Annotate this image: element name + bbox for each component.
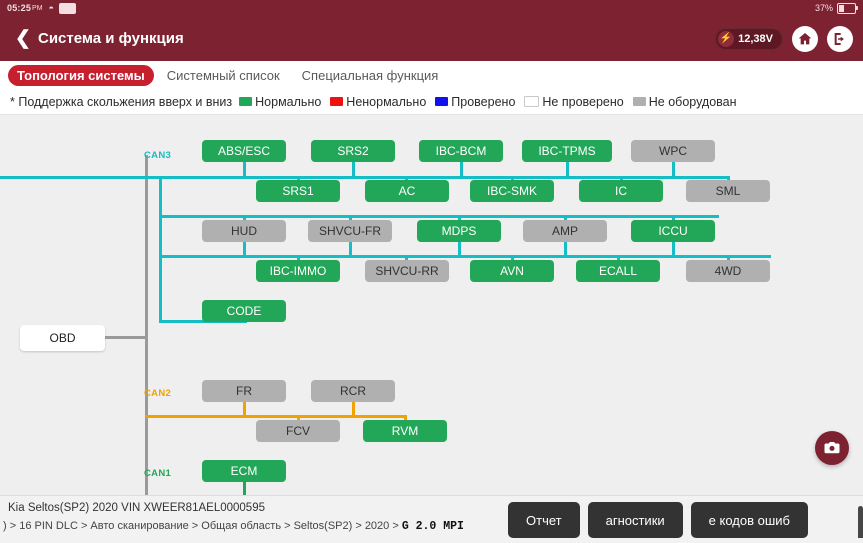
topology-canvas[interactable]: OBD CAN3 xyxy=(0,115,863,495)
system-status-bar: 05:25 PM ◓ 37% xyxy=(0,0,863,16)
can3-drop-shvcu-fr-down xyxy=(349,242,352,257)
diagnostics-button[interactable]: агностики xyxy=(588,502,683,538)
bus-label-can1: CAN1 xyxy=(144,468,171,479)
legend-swatch-normal xyxy=(239,97,252,106)
node-code[interactable]: CODE xyxy=(202,300,286,322)
screenshot-button[interactable] xyxy=(815,431,849,465)
tab-special-function[interactable]: Специальная функция xyxy=(293,65,448,86)
bottom-bar: Kia Seltos(SP2) 2020 VIN XWEER81AEL00005… xyxy=(0,495,863,543)
battery-percent-label: 37% xyxy=(815,3,833,13)
node-4wd[interactable]: 4WD xyxy=(686,260,770,282)
node-ac[interactable]: AC xyxy=(365,180,449,202)
can3-drop-abs-esc xyxy=(243,162,246,178)
can3-bus-row1 xyxy=(0,176,715,179)
legend-item-normal: Нормально xyxy=(239,95,321,109)
bolt-icon: ⚡ xyxy=(718,31,734,47)
tab-system-topology[interactable]: Топология системы xyxy=(8,65,154,86)
node-hud[interactable]: HUD xyxy=(202,220,286,242)
title-bar: ❮ Система и функция ⚡ 12,38V xyxy=(0,16,863,61)
can3-spine xyxy=(159,176,162,323)
legend-scroll-hint: * Поддержка скольжения вверх и вниз xyxy=(10,95,232,109)
can3-drop-ibc-tpms xyxy=(566,162,569,178)
breadcrumb-path: ) > 16 PIN DLC > Авто сканирование > Общ… xyxy=(3,520,402,532)
node-srs1[interactable]: SRS1 xyxy=(256,180,340,202)
can3-bus-row3 xyxy=(159,255,771,258)
trunk-vertical xyxy=(145,155,148,495)
legend-label-not-equipped: Не оборудован xyxy=(649,95,737,109)
node-wpc[interactable]: WPC xyxy=(631,140,715,162)
exit-button[interactable] xyxy=(827,26,853,52)
node-sml[interactable]: SML xyxy=(686,180,770,202)
report-button[interactable]: Отчет xyxy=(508,502,580,538)
can2-drop-rcr xyxy=(352,402,355,417)
node-ic[interactable]: IC xyxy=(579,180,663,202)
can3-drop-mdps-down xyxy=(458,242,461,257)
node-fr[interactable]: FR xyxy=(202,380,286,402)
legend-label-unchecked: Не проверено xyxy=(542,95,623,109)
action-button-row[interactable]: Отчет агностики е кодов ошиб xyxy=(508,502,863,538)
legend-items: Нормально Ненормально Проверено Не прове… xyxy=(239,95,736,109)
node-ecall[interactable]: ECALL xyxy=(576,260,660,282)
bus-label-can3: CAN3 xyxy=(144,150,171,161)
node-mdps[interactable]: MDPS xyxy=(417,220,501,242)
legend-bar: * Поддержка скольжения вверх и вниз Норм… xyxy=(0,89,863,115)
can2-drop-fr xyxy=(243,402,246,417)
node-iccu[interactable]: ICCU xyxy=(631,220,715,242)
legend-label-checked: Проверено xyxy=(451,95,515,109)
exit-icon xyxy=(832,31,848,47)
node-shvcu-rr[interactable]: SHVCU-RR xyxy=(365,260,449,282)
can1-drop-ecm xyxy=(243,482,246,495)
node-avn[interactable]: AVN xyxy=(470,260,554,282)
node-amp[interactable]: AMP xyxy=(523,220,607,242)
legend-item-abnormal: Ненормально xyxy=(330,95,426,109)
tab-system-list[interactable]: Системный список xyxy=(158,65,289,86)
can3-drop-srs2 xyxy=(352,162,355,178)
legend-swatch-unchecked xyxy=(524,96,539,107)
page-title: Система и функция xyxy=(38,30,184,47)
camera-icon xyxy=(823,439,841,457)
home-icon xyxy=(797,31,813,47)
bus-label-can2: CAN2 xyxy=(144,388,171,399)
legend-item-unchecked: Не проверено xyxy=(524,95,623,109)
back-button[interactable]: ❮ xyxy=(10,29,36,48)
legend-swatch-abnormal xyxy=(330,97,343,106)
legend-item-checked: Проверено xyxy=(435,95,515,109)
node-fcv[interactable]: FCV xyxy=(256,420,340,442)
engine-type: G 2.0 MPI xyxy=(402,520,464,533)
title-bar-actions: ⚡ 12,38V xyxy=(715,26,853,52)
node-ibc-bcm[interactable]: IBC-BCM xyxy=(419,140,503,162)
node-rcr[interactable]: RCR xyxy=(311,380,395,402)
home-button[interactable] xyxy=(792,26,818,52)
tab-bar: Топология системы Системный список Специ… xyxy=(0,61,863,89)
can2-bus xyxy=(145,415,407,418)
node-abs-esc[interactable]: ABS/ESC xyxy=(202,140,286,162)
node-ecm[interactable]: ECM xyxy=(202,460,286,482)
legend-swatch-not-equipped xyxy=(633,97,646,106)
legend-item-not-equipped: Не оборудован xyxy=(633,95,737,109)
legend-label-abnormal: Ненормально xyxy=(346,95,426,109)
can3-drop-hud-down xyxy=(243,242,246,257)
wifi-icon: ◓ xyxy=(49,4,54,13)
node-obd[interactable]: OBD xyxy=(20,325,105,351)
vehicle-info: Kia Seltos(SP2) 2020 VIN XWEER81AEL00005… xyxy=(8,502,265,514)
can3-drop-iccu-down xyxy=(672,242,675,257)
button-row-scroll-edge[interactable] xyxy=(858,506,863,538)
trunk-obd-horizontal xyxy=(105,336,147,339)
node-shvcu-fr[interactable]: SHVCU-FR xyxy=(308,220,392,242)
can3-drop-amp-down xyxy=(564,242,567,257)
node-ibc-smk[interactable]: IBC-SMK xyxy=(470,180,554,202)
battery-icon xyxy=(837,3,856,14)
can3-drop-ibc-bcm xyxy=(460,162,463,178)
status-icons: ◓ xyxy=(49,3,76,14)
node-ibc-tpms[interactable]: IBC-TPMS xyxy=(522,140,612,162)
legend-swatch-checked xyxy=(435,97,448,106)
clock-meridiem: PM xyxy=(32,5,43,12)
can3-bus-row1-right-ext xyxy=(712,176,730,179)
app-root: 05:25 PM ◓ 37% ❮ Система и функция ⚡ 12,… xyxy=(0,0,863,543)
clear-codes-button[interactable]: е кодов ошиб xyxy=(691,502,808,538)
node-srs2[interactable]: SRS2 xyxy=(311,140,395,162)
status-right: 37% xyxy=(815,3,856,14)
clock-time: 05:25 xyxy=(7,3,31,13)
legend-label-normal: Нормально xyxy=(255,95,321,109)
can3-drop-wpc xyxy=(672,162,675,178)
voltage-value: 12,38V xyxy=(738,33,773,45)
node-rvm[interactable]: RVM xyxy=(363,420,447,442)
node-ibc-immo[interactable]: IBC-IMMO xyxy=(256,260,340,282)
keyboard-icon xyxy=(59,3,76,14)
breadcrumb: ) > 16 PIN DLC > Авто сканирование > Общ… xyxy=(3,520,464,533)
voltage-indicator: ⚡ 12,38V xyxy=(715,28,783,50)
